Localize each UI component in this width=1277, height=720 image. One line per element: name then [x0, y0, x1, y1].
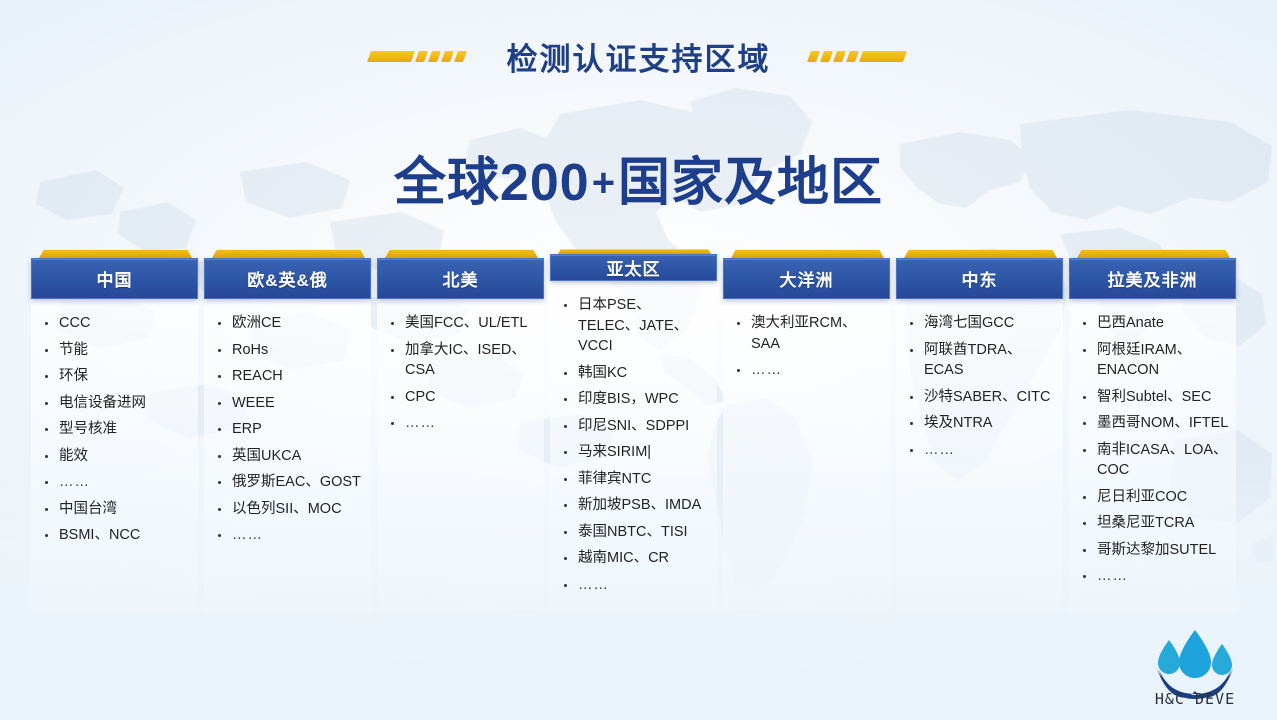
certification-list-north-america: 美国FCC、UL/ETL 加拿大IC、ISED、CSA CPC ……	[381, 313, 538, 434]
region-column-middle-east: 中东 海湾七国GCC 阿联酋TDRA、ECAS 沙特SABER、CITC 埃及N…	[896, 249, 1063, 611]
headline-prefix: 全球200	[394, 154, 590, 212]
region-column-latam-africa: 拉美及非洲 巴西Anate 阿根廷IRAM、ENACON 智利Subtel、SE…	[1069, 249, 1236, 611]
slide-background: 检测认证支持区域 全球200+国家及地区 中国 CCC 节能 环保 电信设备进网…	[0, 0, 1277, 720]
column-header-label: 欧&英&俄	[247, 266, 328, 291]
region-columns: 中国 CCC 节能 环保 电信设备进网 型号核准 能效 …… 中国台湾 BSMI…	[31, 249, 1247, 611]
column-header-asia-pacific[interactable]: 亚太区	[550, 254, 717, 281]
column-header-label: 亚太区	[607, 255, 661, 280]
list-item: CCC	[35, 313, 192, 334]
list-item: ……	[1073, 566, 1230, 587]
headline-suffix: 国家及地区	[618, 154, 883, 212]
list-item: 韩国KC	[554, 363, 711, 384]
list-item: WEEE	[208, 393, 365, 414]
certification-list-oceania: 澳大利亚RCM、SAA ……	[727, 313, 884, 381]
column-body-china: CCC 节能 环保 电信设备进网 型号核准 能效 …… 中国台湾 BSMI、NC…	[31, 299, 198, 611]
list-item: 欧洲CE	[208, 313, 365, 334]
list-item: 哥斯达黎加SUTEL	[1073, 540, 1230, 561]
region-column-oceania: 大洋洲 澳大利亚RCM、SAA ……	[723, 249, 890, 611]
headline-plus: +	[592, 161, 616, 205]
list-item: 埃及NTRA	[900, 413, 1057, 434]
list-item: 节能	[35, 340, 192, 361]
column-header-label: 北美	[443, 266, 479, 291]
column-body-north-america: 美国FCC、UL/ETL 加拿大IC、ISED、CSA CPC ……	[377, 299, 544, 611]
list-item: ……	[727, 360, 884, 381]
list-item: BSMI、NCC	[35, 525, 192, 546]
column-header-north-america[interactable]: 北美	[377, 258, 544, 299]
list-item: 电信设备进网	[35, 393, 192, 414]
list-item: 南非ICASA、LOA、COC	[1073, 440, 1230, 481]
list-item: 泰国NBTC、TISI	[554, 522, 711, 543]
column-body-middle-east: 海湾七国GCC 阿联酋TDRA、ECAS 沙特SABER、CITC 埃及NTRA…	[896, 299, 1063, 611]
region-column-china: 中国 CCC 节能 环保 电信设备进网 型号核准 能效 …… 中国台湾 BSMI…	[31, 249, 198, 611]
list-item: 墨西哥NOM、IFTEL	[1073, 413, 1230, 434]
list-item: 中国台湾	[35, 499, 192, 520]
list-item: 英国UKCA	[208, 446, 365, 467]
column-gold-tab	[212, 250, 365, 258]
column-header-label: 中国	[97, 266, 133, 291]
title-decoration-right	[809, 46, 909, 68]
column-header-label: 中东	[962, 266, 998, 291]
column-gold-tab	[39, 250, 192, 258]
list-item: 巴西Anate	[1073, 313, 1230, 334]
column-header-label: 拉美及非洲	[1108, 266, 1198, 291]
column-body-asia-pacific: 日本PSE、TELEC、JATE、VCCI 韩国KC 印度BIS，WPC 印尼S…	[550, 281, 717, 611]
list-item: REACH	[208, 366, 365, 387]
list-item: ……	[35, 472, 192, 493]
list-item: 环保	[35, 366, 192, 387]
list-item: ……	[900, 440, 1057, 461]
column-gold-tab	[904, 250, 1057, 258]
column-header-china[interactable]: 中国	[31, 258, 198, 299]
list-item: 澳大利亚RCM、SAA	[727, 313, 884, 354]
list-item: 海湾七国GCC	[900, 313, 1057, 334]
list-item: 印尼SNI、SDPPI	[554, 416, 711, 437]
list-item: 菲律宾NTC	[554, 469, 711, 490]
list-item: 马来SIRIM|	[554, 442, 711, 463]
headline: 全球200+国家及地区	[0, 140, 1277, 215]
certification-list-china: CCC 节能 环保 电信设备进网 型号核准 能效 …… 中国台湾 BSMI、NC…	[35, 313, 192, 546]
column-body-europe-uk-russia: 欧洲CE RoHs REACH WEEE ERP 英国UKCA 俄罗斯EAC、G…	[204, 299, 371, 611]
certification-list-asia-pacific: 日本PSE、TELEC、JATE、VCCI 韩国KC 印度BIS，WPC 印尼S…	[554, 295, 711, 595]
list-item: RoHs	[208, 340, 365, 361]
logo-text: H&C DEVE	[1129, 690, 1261, 708]
page-title: 检测认证支持区域	[507, 34, 771, 79]
list-item: 日本PSE、TELEC、JATE、VCCI	[554, 295, 711, 357]
list-item: ERP	[208, 419, 365, 440]
column-body-oceania: 澳大利亚RCM、SAA ……	[723, 299, 890, 611]
list-item: 沙特SABER、CITC	[900, 387, 1057, 408]
list-item: 型号核准	[35, 419, 192, 440]
list-item: ……	[554, 575, 711, 596]
list-item: 坦桑尼亚TCRA	[1073, 513, 1230, 534]
column-header-middle-east[interactable]: 中东	[896, 258, 1063, 299]
list-item: 越南MIC、CR	[554, 548, 711, 569]
list-item: 阿根廷IRAM、ENACON	[1073, 340, 1230, 381]
list-item: 智利Subtel、SEC	[1073, 387, 1230, 408]
certification-list-europe-uk-russia: 欧洲CE RoHs REACH WEEE ERP 英国UKCA 俄罗斯EAC、G…	[208, 313, 365, 546]
title-decoration-left	[369, 46, 469, 68]
column-header-europe-uk-russia[interactable]: 欧&英&俄	[204, 258, 371, 299]
region-column-asia-pacific: 亚太区 日本PSE、TELEC、JATE、VCCI 韩国KC 印度BIS，WPC…	[550, 249, 717, 611]
list-item: 以色列SII、MOC	[208, 499, 365, 520]
list-item: 阿联酋TDRA、ECAS	[900, 340, 1057, 381]
list-item: ……	[208, 525, 365, 546]
water-droplet-icon	[1158, 630, 1232, 678]
list-item: 新加坡PSB、IMDA	[554, 495, 711, 516]
region-column-europe-uk-russia: 欧&英&俄 欧洲CE RoHs REACH WEEE ERP 英国UKCA 俄罗…	[204, 249, 371, 611]
list-item: 能效	[35, 446, 192, 467]
certification-list-latam-africa: 巴西Anate 阿根廷IRAM、ENACON 智利Subtel、SEC 墨西哥N…	[1073, 313, 1230, 587]
column-header-oceania[interactable]: 大洋洲	[723, 258, 890, 299]
slide-header: 检测认证支持区域	[0, 34, 1277, 79]
column-header-latam-africa[interactable]: 拉美及非洲	[1069, 258, 1236, 299]
list-item: 印度BIS，WPC	[554, 389, 711, 410]
list-item: 尼日利亚COC	[1073, 487, 1230, 508]
column-gold-tab	[385, 250, 538, 258]
column-header-label: 大洋洲	[780, 266, 834, 291]
list-item: 俄罗斯EAC、GOST	[208, 472, 365, 493]
certification-list-middle-east: 海湾七国GCC 阿联酋TDRA、ECAS 沙特SABER、CITC 埃及NTRA…	[900, 313, 1057, 460]
list-item: CPC	[381, 387, 538, 408]
column-body-latam-africa: 巴西Anate 阿根廷IRAM、ENACON 智利Subtel、SEC 墨西哥N…	[1069, 299, 1236, 611]
list-item: ……	[381, 413, 538, 434]
region-column-north-america: 北美 美国FCC、UL/ETL 加拿大IC、ISED、CSA CPC ……	[377, 249, 544, 611]
column-gold-tab	[731, 250, 884, 258]
column-gold-tab	[1077, 250, 1230, 258]
list-item: 美国FCC、UL/ETL	[381, 313, 538, 334]
list-item: 加拿大IC、ISED、CSA	[381, 340, 538, 381]
